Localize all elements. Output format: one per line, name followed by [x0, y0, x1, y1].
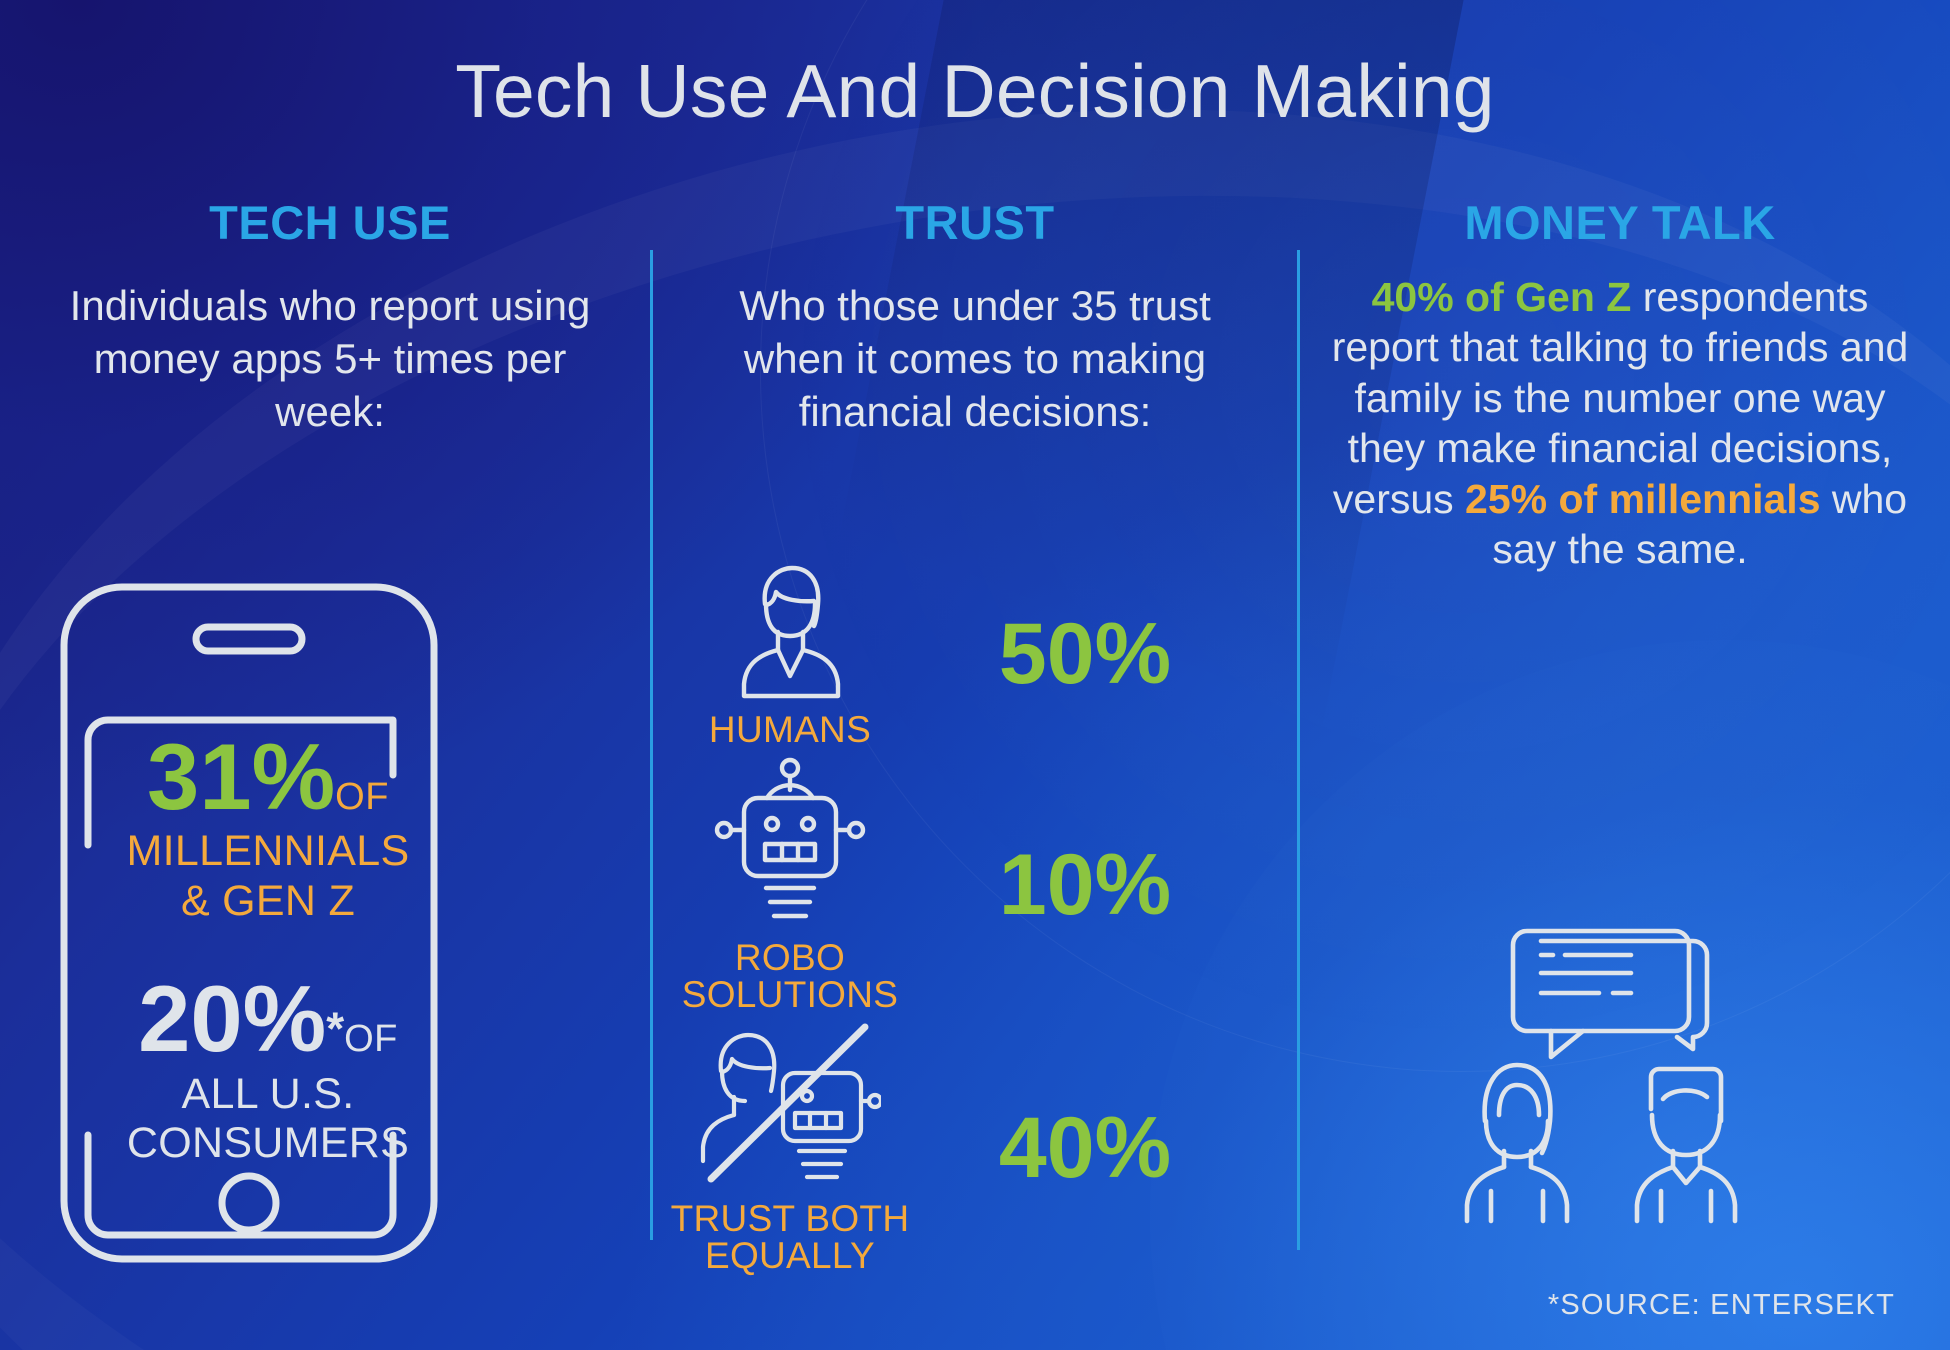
tech-use-stats: 31%OF MILLENNIALS & GEN Z 20%*OF ALL U.S… [48, 730, 488, 1168]
money-talk-genz-stat: 40% of Gen Z [1372, 274, 1632, 320]
trust-row-robo: ROBOSOLUTIONS 10% [660, 756, 1290, 1013]
stat-31-value: 31% [147, 724, 335, 829]
stat-20-asterisk: * [326, 1003, 344, 1055]
two-people-speech-bubble-icon [1455, 925, 1785, 1230]
trust-row-humans: HUMANS 50% [660, 560, 1290, 748]
tech-use-heading: TECH USE [20, 195, 640, 250]
stat-31-line: 31%OF [48, 730, 488, 824]
trust-icon-cell: ROBOSOLUTIONS [660, 756, 920, 1013]
infographic-canvas: Tech Use And Decision Making TECH USE In… [0, 0, 1950, 1350]
trust-rows: HUMANS 50% [660, 560, 1290, 1282]
column-divider-1 [650, 250, 653, 1240]
money-talk-heading: MONEY TALK [1310, 195, 1930, 250]
trust-icon-cell: TRUST BOTHEQUALLY [660, 1021, 920, 1274]
stat-31-label-line2: & GEN Z [48, 878, 488, 924]
human-robot-icon [699, 1021, 881, 1194]
trust-label-humans: HUMANS [709, 711, 871, 748]
column-divider-2 [1297, 250, 1300, 1250]
trust-percent-humans: 50% [920, 611, 1250, 697]
tech-use-intro: Individuals who report using money apps … [50, 280, 610, 439]
trust-intro: Who those under 35 trust when it comes t… [705, 280, 1245, 439]
source-note: *SOURCE: ENTERSEKT [1548, 1289, 1895, 1322]
trust-heading: TRUST [660, 195, 1290, 250]
money-talk-millennials-stat: 25% of millennials [1465, 476, 1820, 522]
stat-20-of: OF [344, 1018, 398, 1060]
person-icon [722, 560, 858, 705]
trust-percent-both: 40% [920, 1105, 1250, 1191]
trust-label-robo: ROBOSOLUTIONS [682, 939, 899, 1013]
trust-label-both: TRUST BOTHEQUALLY [671, 1200, 910, 1274]
stat-31-of: OF [335, 776, 389, 818]
stat-20-value: 20% [138, 966, 326, 1071]
trust-icon-cell: HUMANS [660, 560, 920, 748]
stat-20-label: ALL U.S. CONSUMERS [48, 1070, 488, 1168]
trust-row-both: TRUST BOTHEQUALLY 40% [660, 1021, 1290, 1274]
money-talk-body: 40% of Gen Z respondents report that tal… [1318, 272, 1922, 575]
robot-icon [710, 756, 870, 933]
stat-31-label-line1: MILLENNIALS [48, 828, 488, 874]
stat-20-line: 20%*OF [48, 972, 488, 1066]
trust-percent-robo: 10% [920, 842, 1250, 928]
